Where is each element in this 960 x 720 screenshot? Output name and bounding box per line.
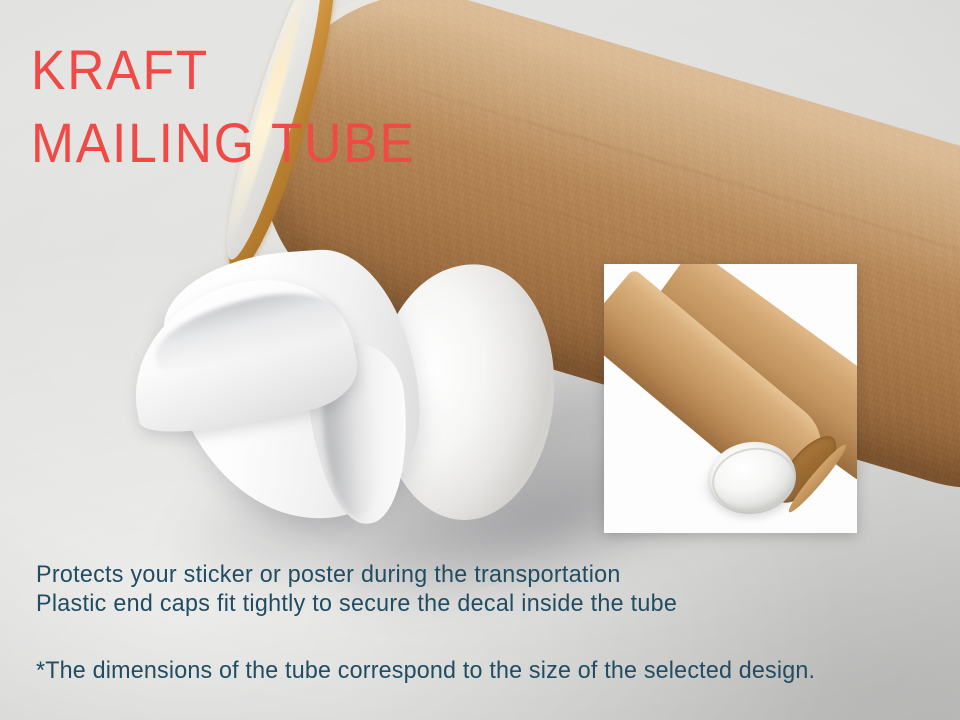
footnote-text: *The dimensions of the tube correspond t… bbox=[36, 657, 815, 685]
rolled-poster bbox=[128, 246, 458, 536]
product-detail-inset bbox=[604, 264, 857, 533]
feature-line-2: Plastic end caps fit tightly to secure t… bbox=[36, 590, 677, 618]
headline-line-2: MAILING TUBE bbox=[31, 115, 416, 171]
headline-line-1: KRAFT bbox=[31, 42, 209, 98]
poster-canvas: KRAFT MAILING TUBE Protects your sticker… bbox=[0, 0, 960, 720]
feature-line-1: Protects your sticker or poster during t… bbox=[36, 561, 621, 589]
